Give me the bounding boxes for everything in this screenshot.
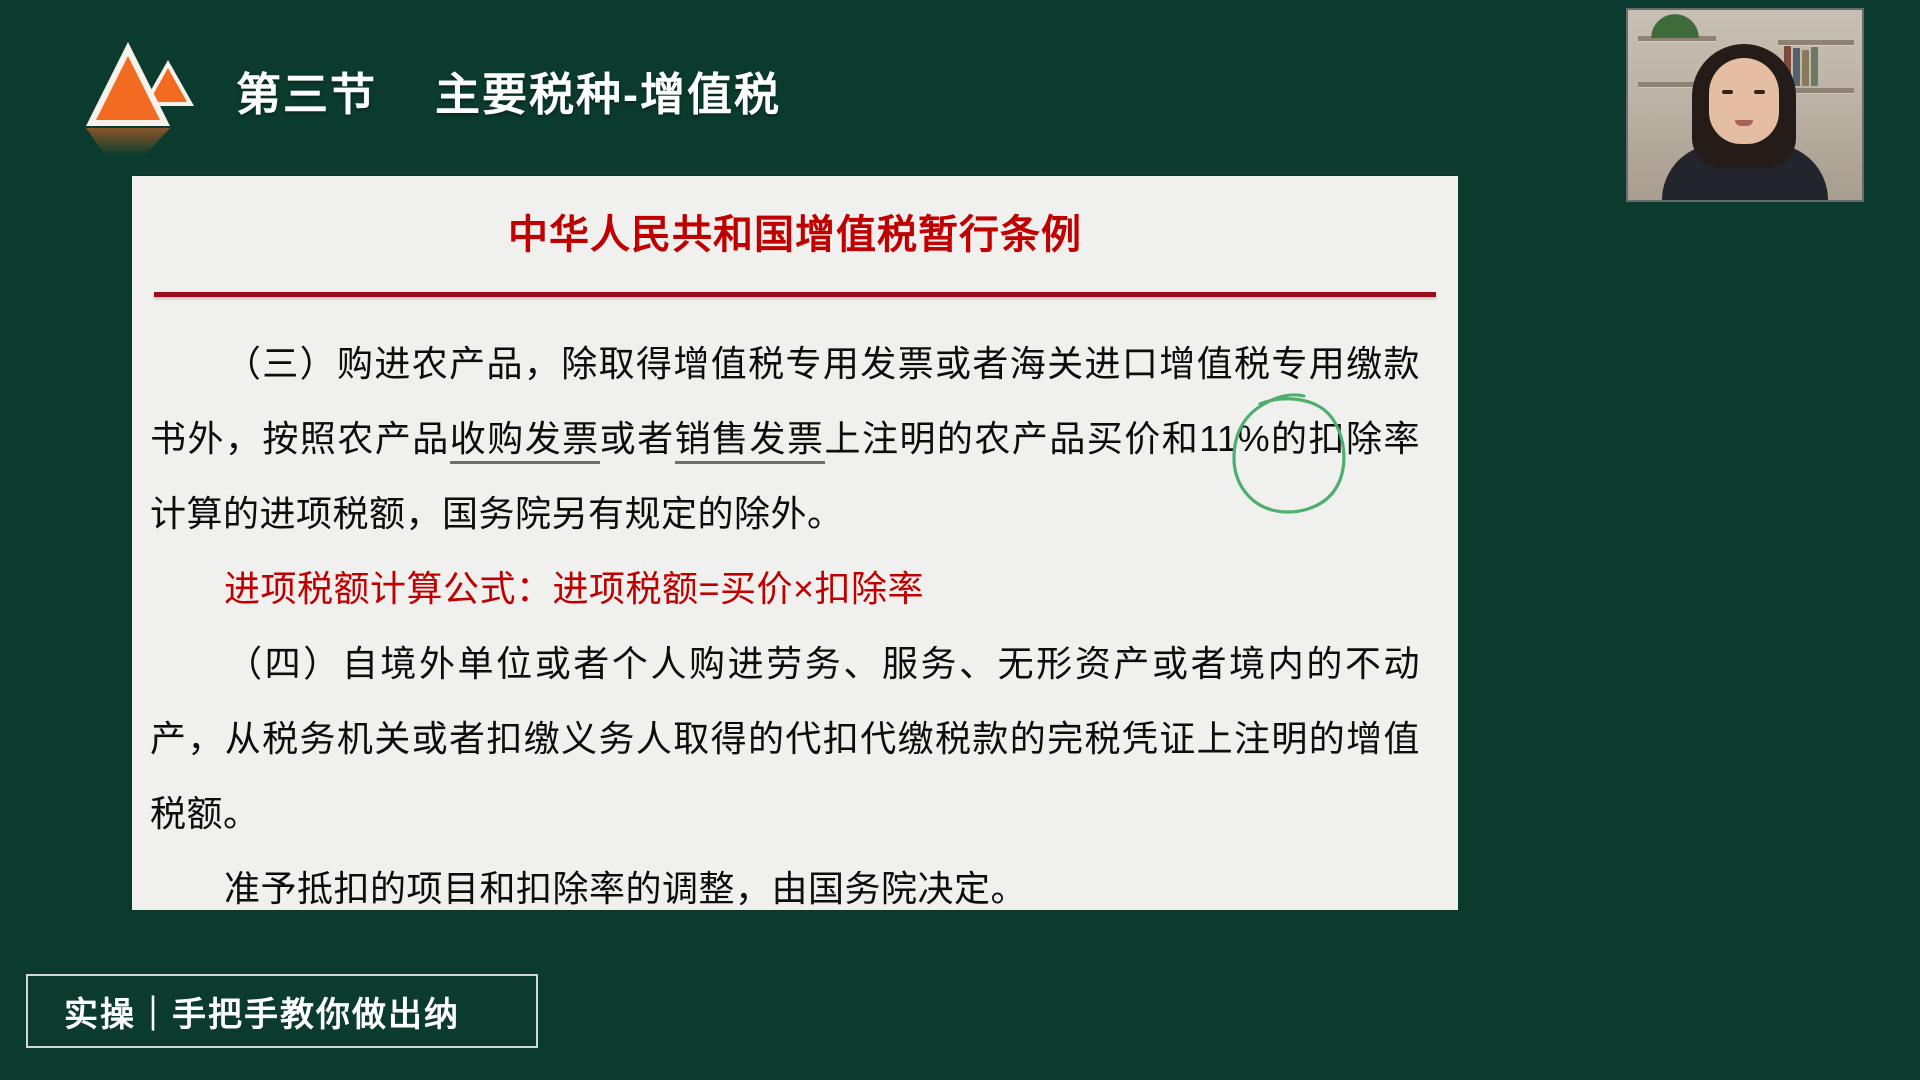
paragraph-item-four: （四）自境外单位或者个人购进劳务、服务、无形资产或者境内的不动产，从税务机关或者… [132,626,1438,851]
instructor-webcam [1626,8,1864,202]
book-icon [1802,50,1809,86]
paragraph-text: 准予抵扣的项目和扣除率的调整，由国务院决定。 [224,868,1027,909]
card-title: 中华人民共和国增值税暂行条例 [132,176,1458,260]
run-text: 或者 [600,418,675,459]
shelf-icon [1778,40,1854,45]
person-eye-left [1722,90,1733,94]
paragraph-item-three: （三）购进农产品，除取得增值税专用发票或者海关进口增值税专用缴款书外，按照农产品… [132,326,1438,551]
content-card: 中华人民共和国增值税暂行条例 （三）购进农产品，除取得增值税专用发票或者海关进口… [132,176,1458,910]
book-icon [1811,47,1818,86]
course-banner: 实操｜手把手教你做出纳 [26,974,538,1048]
run-underlined: 销售发票 [675,418,825,464]
person-face [1709,58,1779,144]
slide-heading: 第三节 主要税种-增值税 [236,58,781,123]
paragraph-text: （四）自境外单位或者个人购进劳务、服务、无形资产或者境内的不动产，从税务机关或者… [150,643,1420,834]
slide-canvas: 第三节 主要税种-增值税 中华人民共和国增值税暂行条例 （三）购进农产品，除取得… [0,0,1920,1080]
paragraph-closing-note: 准予抵扣的项目和扣除率的调整，由国务院决定。 [132,851,1438,926]
course-banner-text: 实操｜手把手教你做出纳 [64,987,460,1036]
card-body: （三）购进农产品，除取得增值税专用发票或者海关进口增值税专用缴款书外，按照农产品… [132,326,1458,926]
person-eye-right [1754,90,1765,94]
brand-logo-icon [84,28,206,158]
plant-icon [1646,10,1704,38]
formula-line: 进项税额计算公式：进项税额=买价×扣除率 [132,551,1438,626]
formula-text: 进项税额计算公式：进项税额=买价×扣除率 [224,568,924,609]
title-divider [154,292,1436,297]
run-underlined: 收购发票 [450,418,600,464]
book-icon [1793,48,1800,86]
